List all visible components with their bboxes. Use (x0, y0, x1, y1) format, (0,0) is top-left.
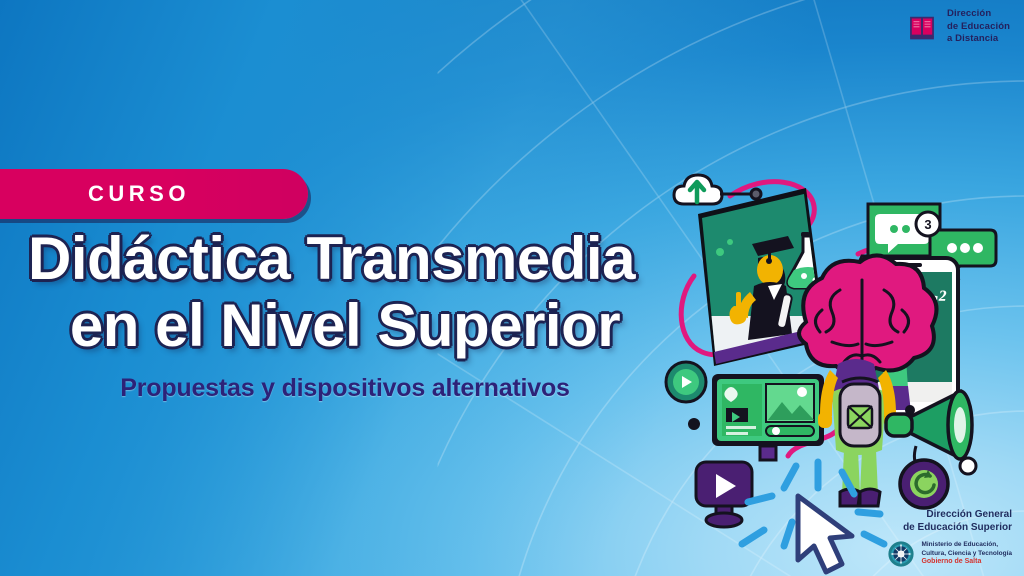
page-title-line1: Didáctica Transmedia (0, 228, 690, 289)
logo-line2: de Educación (947, 21, 1010, 34)
education-illustration: 3 E=mc² (672, 166, 1024, 546)
play-button-icon (696, 462, 752, 527)
logo-line1: Dirección (947, 8, 1010, 21)
dot-decoration (688, 418, 700, 430)
logo-line3: a Distancia (947, 33, 1010, 46)
logo-direccion-educacion-distancia: Dirección de Educación a Distancia (905, 8, 1010, 46)
open-book-icon (905, 10, 939, 44)
refresh-badge-icon (900, 460, 948, 508)
notification-badge: 3 (916, 212, 940, 236)
government-label: Gobierno de Salta (921, 558, 1012, 567)
cloud-upload-icon (674, 175, 722, 204)
ministry-line2: Cultura, Ciencia y Tecnología (921, 550, 1012, 558)
course-badge: CURSO (0, 169, 308, 219)
logo-text: Dirección de Educación a Distancia (947, 8, 1010, 46)
page-subtitle: Propuestas y dispositivos alternativos (0, 374, 690, 403)
course-badge-label: CURSO (88, 181, 190, 207)
title-block: Didáctica Transmedia en el Nivel Superio… (0, 228, 690, 403)
page-title-line2: en el Nivel Superior (0, 295, 690, 356)
course-banner: CURSO Didáctica Transmedia en el Nivel S… (0, 0, 1024, 576)
svg-text:3: 3 (924, 217, 931, 232)
brain-illustration (799, 255, 937, 374)
play-circle-icon (666, 362, 706, 402)
monitor-gallery-icon (712, 374, 824, 460)
